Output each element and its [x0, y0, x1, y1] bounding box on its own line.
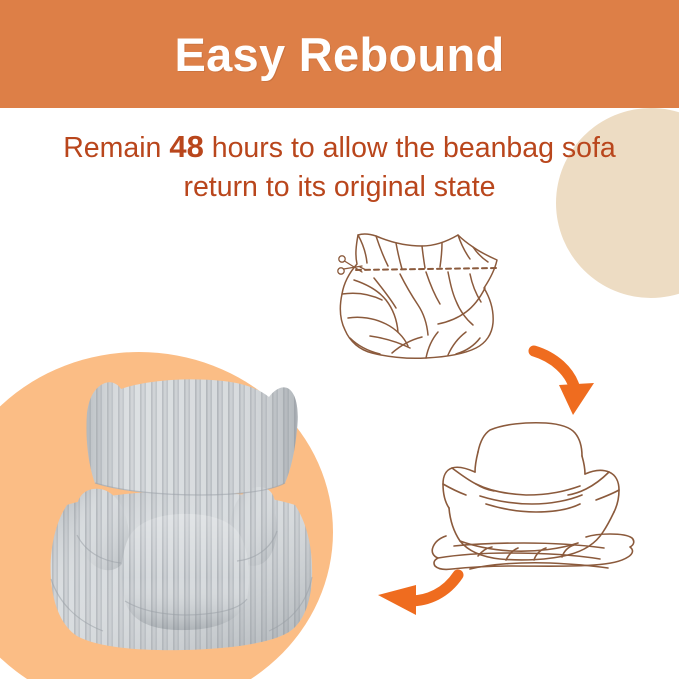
subtitle-prefix: Remain	[63, 132, 169, 164]
arrow-left-icon	[360, 545, 470, 630]
header-banner: Easy Rebound	[0, 0, 679, 108]
subtitle-text: Remain 48 hours to allow the beanbag sof…	[0, 126, 679, 208]
illustration-flattened-beanbag-bag	[330, 222, 530, 372]
page-title: Easy Rebound	[174, 31, 504, 78]
subtitle-highlight-hours: 48	[169, 129, 203, 164]
arrow-down-icon	[520, 345, 610, 430]
subtitle-suffix: hours to allow the beanbag sofa return t…	[183, 132, 615, 203]
product-image-beanbag-sofa	[25, 355, 345, 660]
easy-rebound-infographic: Easy Rebound Remain 48 hours to allow th…	[0, 0, 679, 679]
